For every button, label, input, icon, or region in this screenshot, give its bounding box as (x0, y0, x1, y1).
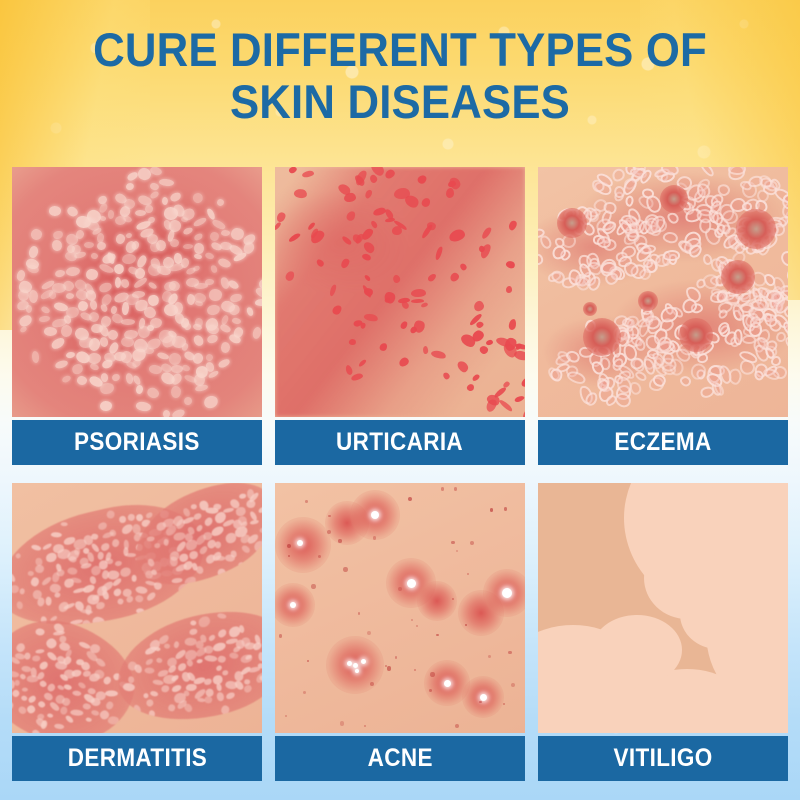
dermatitis-label: DERMATITIS (67, 744, 206, 773)
vitiligo-image (538, 483, 788, 733)
urticaria-label-bar[interactable]: URTICARIA (275, 420, 525, 465)
acne-pimple-cluster (275, 483, 525, 733)
psoriasis-scale-texture (12, 167, 262, 417)
dermatitis-label-bar[interactable]: DERMATITIS (12, 736, 262, 781)
disease-card-grid: PSORIASIS URTICARIA (0, 0, 800, 800)
urticaria-label: URTICARIA (337, 428, 464, 457)
urticaria-welt-texture (275, 167, 525, 417)
psoriasis-image (12, 167, 262, 417)
eczema-image (538, 167, 788, 417)
eczema-label: ECZEMA (614, 428, 711, 457)
acne-label: ACNE (367, 744, 432, 773)
dermatitis-image (12, 483, 262, 733)
eczema-label-bar[interactable]: ECZEMA (538, 420, 788, 465)
acne-label-bar[interactable]: ACNE (275, 736, 525, 781)
eczema-lesion-spots (538, 167, 788, 417)
poster-root: CURE DIFFERENT TYPES OF SKIN DISEASES PS… (0, 0, 800, 800)
vitiligo-label: VITILIGO (613, 744, 712, 773)
psoriasis-label-bar[interactable]: PSORIASIS (12, 420, 262, 465)
acne-image (275, 483, 525, 733)
urticaria-image (275, 167, 525, 417)
psoriasis-label: PSORIASIS (74, 428, 200, 457)
vitiligo-label-bar[interactable]: VITILIGO (538, 736, 788, 781)
